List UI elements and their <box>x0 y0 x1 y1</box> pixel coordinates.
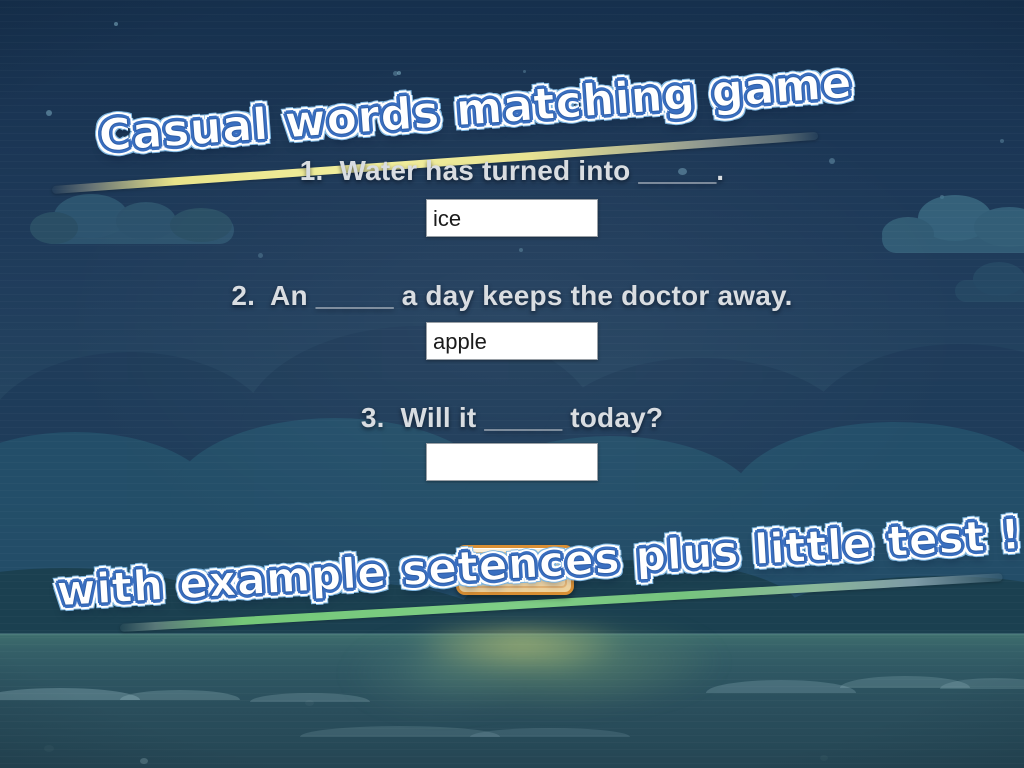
question-text: 3. Will it _____ today? <box>361 402 663 434</box>
answer-input-3[interactable] <box>426 443 598 481</box>
answer-input-1-value: ice <box>427 200 597 231</box>
question-number: 3. <box>361 402 385 433</box>
answer-input-3-value <box>427 444 597 450</box>
question-number: 2. <box>231 280 255 311</box>
question-prefix: Will it <box>401 402 477 433</box>
question-number: 1. <box>300 155 324 186</box>
question-prefix: Water has turned into <box>339 155 630 186</box>
game-screen: 1. Water has turned into _____. ice 2. A… <box>0 0 1024 768</box>
question-blank: _____ <box>484 402 562 433</box>
question-suffix: today? <box>570 402 663 433</box>
question-suffix: . <box>716 155 724 186</box>
question-row: 3. Will it _____ today? <box>0 402 1024 434</box>
question-prefix: An <box>270 280 308 311</box>
question-text: 1. Water has turned into _____. <box>300 155 725 187</box>
answer-input-2-value: apple <box>427 323 597 354</box>
question-row: 1. Water has turned into _____. <box>0 155 1024 187</box>
question-blank: _____ <box>316 280 394 311</box>
question-suffix: a day keeps the doctor away. <box>402 280 793 311</box>
answer-input-1[interactable]: ice <box>426 199 598 237</box>
question-row: 2. An _____ a day keeps the doctor away. <box>0 280 1024 312</box>
question-text: 2. An _____ a day keeps the doctor away. <box>231 280 792 312</box>
question-blank: _____ <box>638 155 716 186</box>
answer-input-2[interactable]: apple <box>426 322 598 360</box>
